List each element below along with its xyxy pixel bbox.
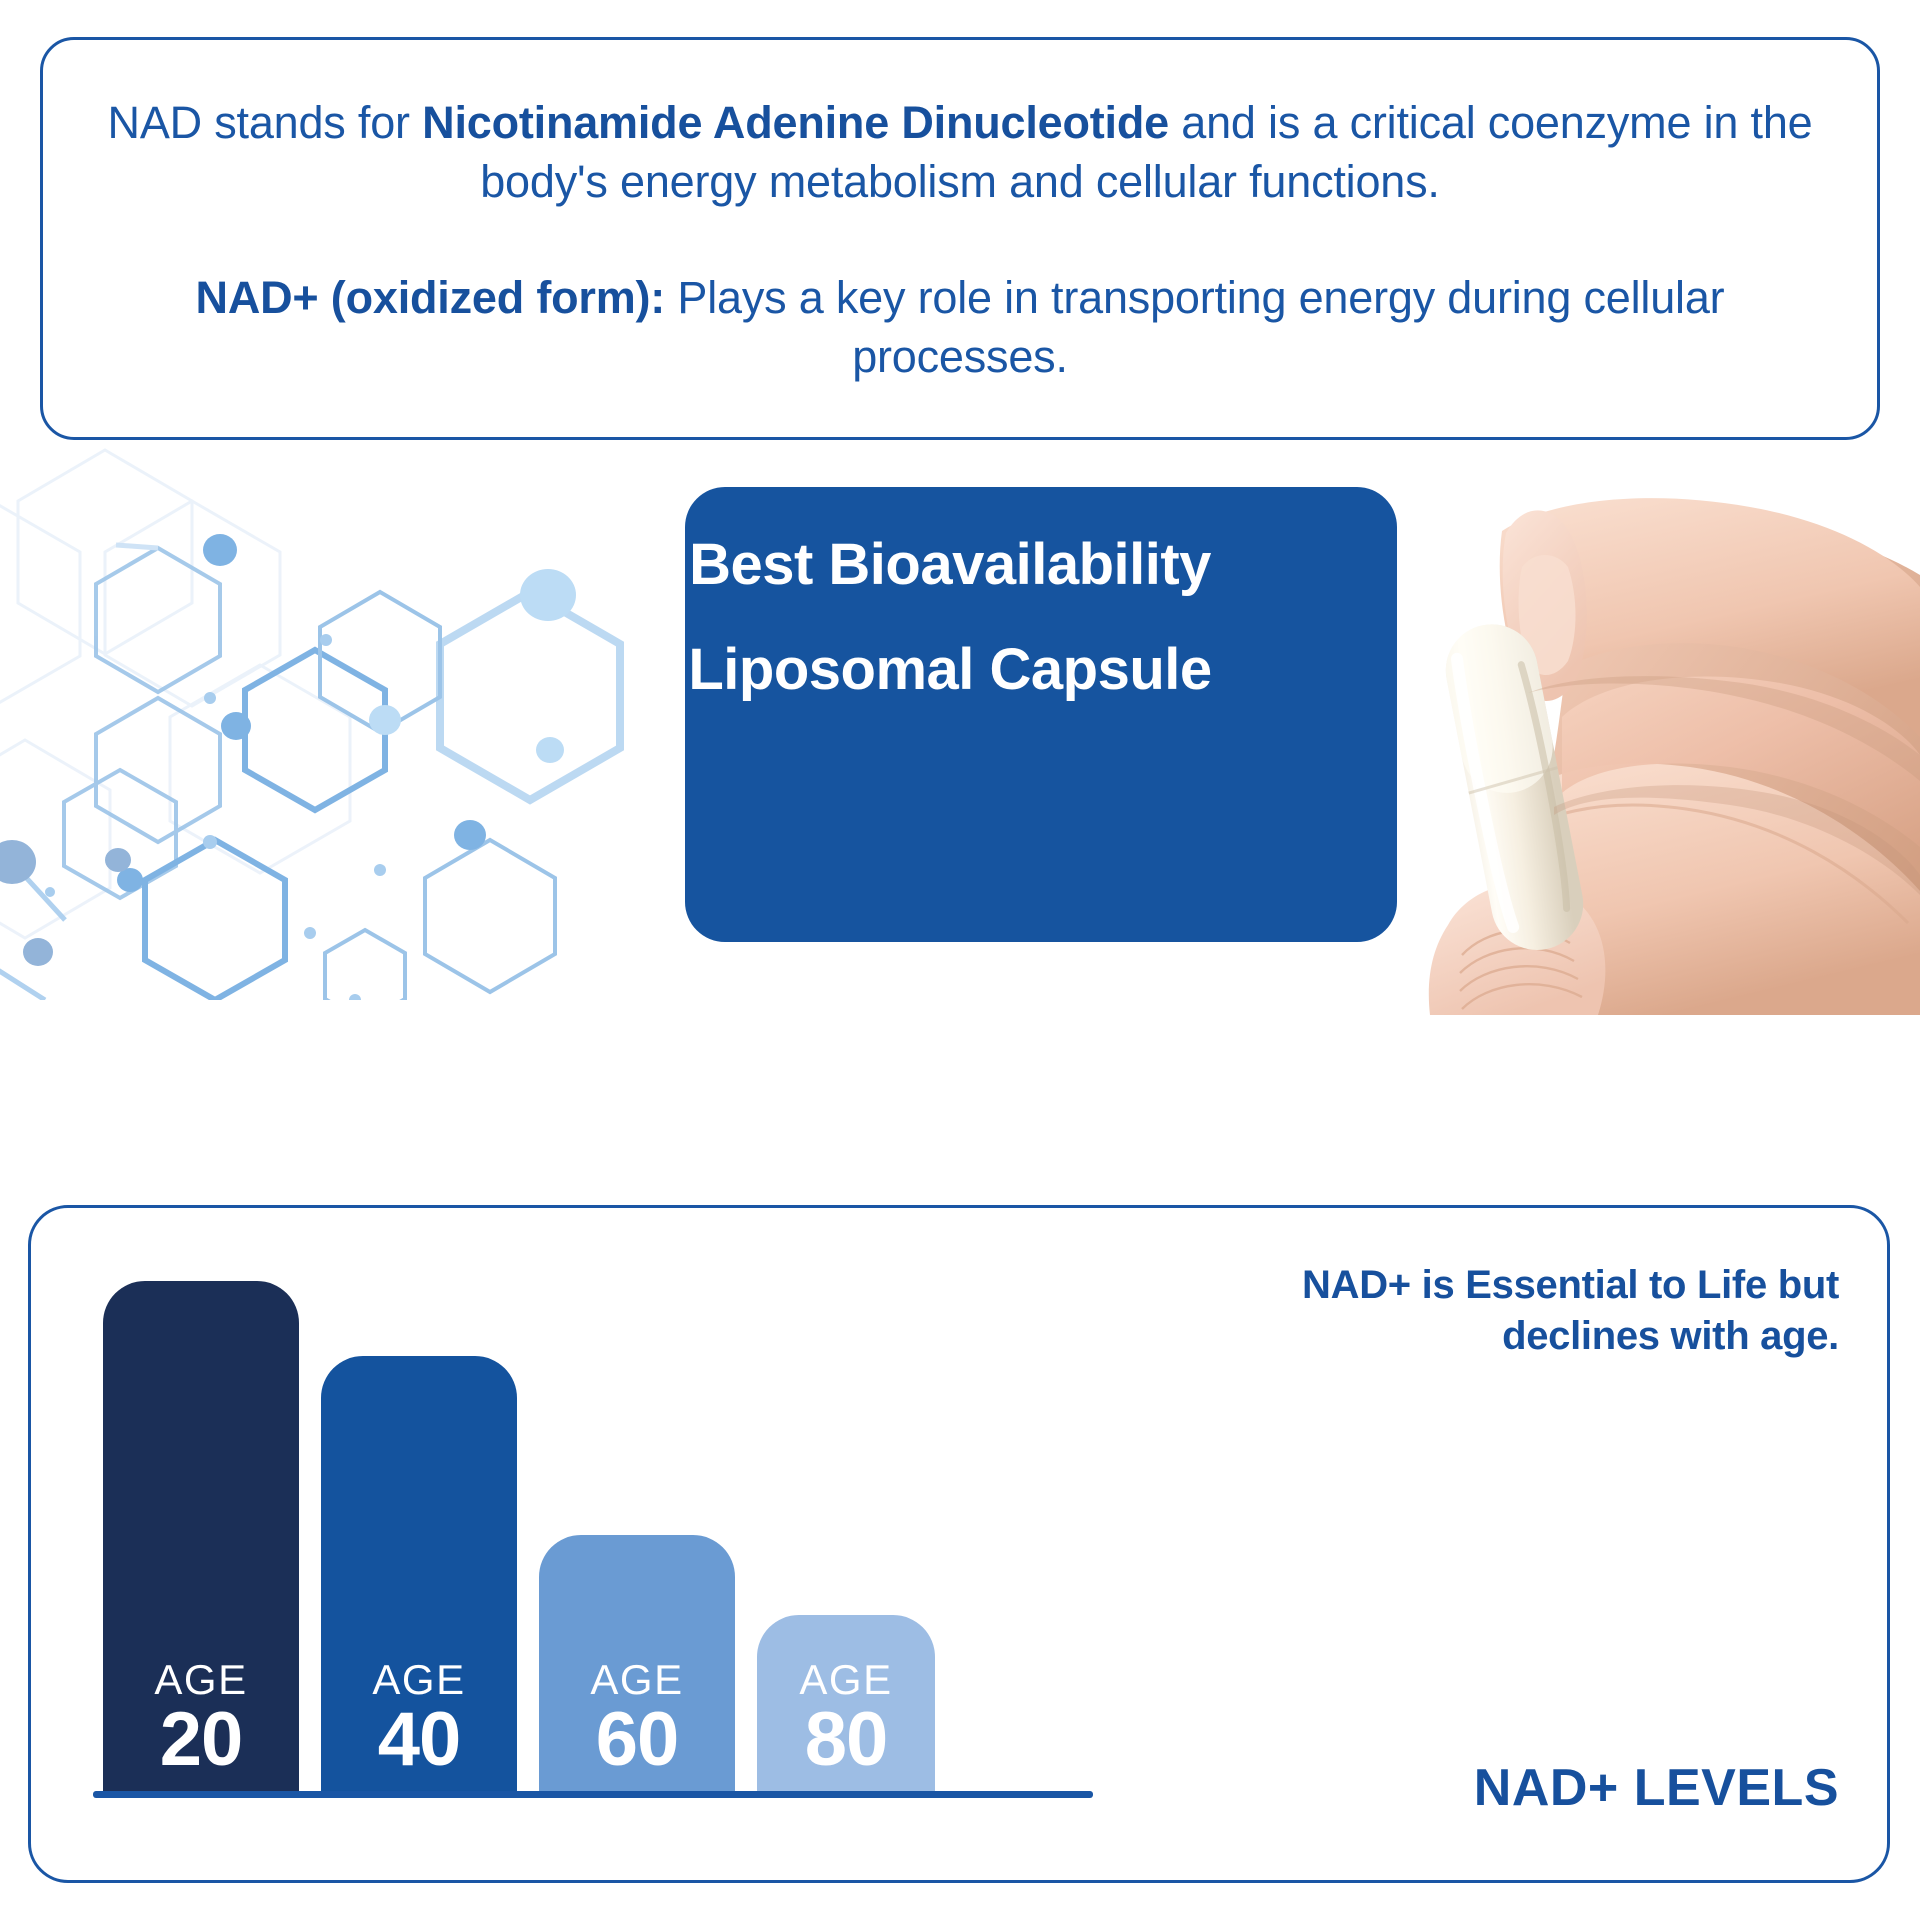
promo-line-2: Liposomal Capsule (685, 636, 1215, 703)
table-row: AGE 80 (757, 1615, 935, 1791)
intro-paragraph-2: NAD+ (oxidized form): Plays a key role i… (95, 269, 1825, 386)
bar-chart: AGE 20 AGE 40 AGE 60 AGE 80 (103, 1261, 1083, 1791)
chart-headline-line-2: declines with age. (1502, 1314, 1839, 1358)
bar-age-word: AGE (372, 1659, 465, 1701)
intro-paragraph-1: NAD stands for Nicotinamide Adenine Dinu… (95, 94, 1825, 211)
bar-age-number: 20 (160, 1701, 243, 1779)
table-row: AGE 40 (321, 1356, 517, 1791)
infographic-page: NAD stands for Nicotinamide Adenine Dinu… (0, 0, 1920, 1920)
promo-line-1: Best Bioavailability (685, 531, 1215, 598)
hexagon-molecule-pattern-icon (0, 440, 670, 1000)
promo-card: Best Bioavailability Liposomal Capsule (685, 487, 1397, 942)
intro-p1-prefix: NAD stands for (108, 97, 423, 148)
intro-p2-bold: NAD+ (oxidized form): (196, 272, 666, 323)
table-row: AGE 20 (103, 1281, 299, 1791)
bar-age-number: 40 (378, 1701, 461, 1779)
chart-headline: NAD+ is Essential to Life but declines w… (1119, 1260, 1839, 1362)
promo-card-text: Best Bioavailability Liposomal Capsule (685, 531, 1215, 704)
nad-levels-chart-card: NAD+ is Essential to Life but declines w… (28, 1205, 1890, 1883)
chart-baseline (93, 1791, 1093, 1798)
table-row: AGE 60 (539, 1535, 735, 1791)
bar-age-word: AGE (154, 1659, 247, 1701)
bar-age-word: AGE (799, 1659, 892, 1701)
bar-age-number: 60 (596, 1701, 679, 1779)
intro-p1-bold: Nicotinamide Adenine Dinucleotide (422, 97, 1169, 148)
bar-age-number: 80 (805, 1701, 888, 1779)
bar-age-word: AGE (590, 1659, 683, 1701)
chart-headline-line-1: NAD+ is Essential to Life but (1302, 1263, 1839, 1307)
intro-p2-suffix: Plays a key role in transporting energy … (665, 272, 1724, 382)
intro-info-card: NAD stands for Nicotinamide Adenine Dinu… (40, 37, 1880, 440)
chart-axis-label: NAD+ LEVELS (1474, 1758, 1839, 1818)
